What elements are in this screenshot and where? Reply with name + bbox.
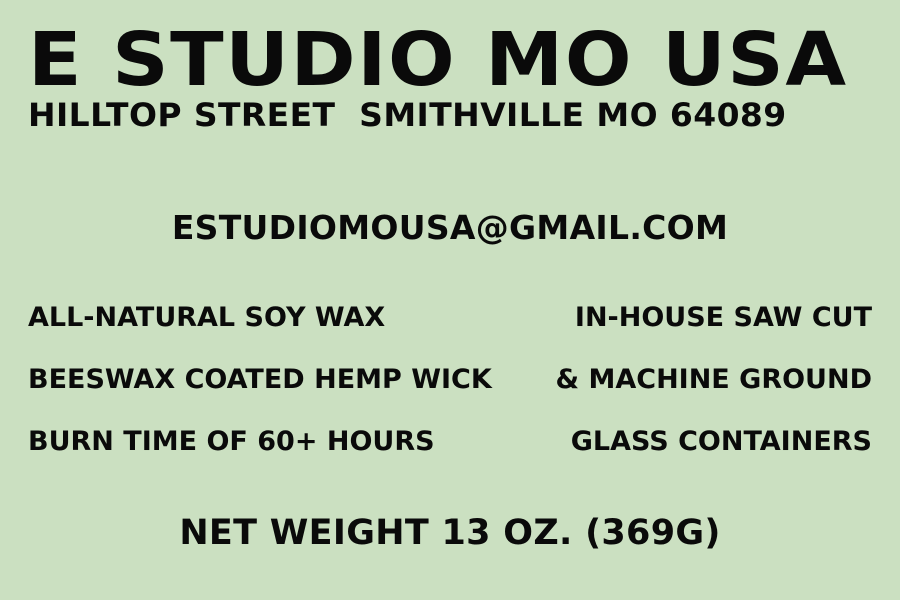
page-title: E STUDIO MO USA	[28, 24, 900, 97]
business-address: HILLTOP STREET SMITHVILLE MO 64089	[28, 97, 897, 135]
feature-item-saw-cut: IN-HOUSE SAW CUT	[575, 303, 872, 333]
contact-email-row: ESTUDIOMOUSA@GMAIL.COM	[0, 208, 900, 247]
feature-item-soy-wax: ALL-NATURAL SOY WAX	[28, 303, 385, 333]
feature-item-hemp-wick: BEESWAX COATED HEMP WICK	[28, 365, 492, 395]
feature-item-machine-ground: & MACHINE GROUND	[556, 365, 872, 395]
product-label-card: E STUDIO MO USA HILLTOP STREET SMITHVILL…	[0, 0, 900, 600]
contact-email: ESTUDIOMOUSA@GMAIL.COM	[172, 208, 728, 247]
net-weight-row: NET WEIGHT 13 OZ. (369G)	[0, 513, 900, 553]
net-weight-value: NET WEIGHT 13 OZ. (369G)	[179, 513, 720, 553]
feature-item-burn-time: BURN TIME OF 60+ HOURS	[28, 427, 435, 457]
feature-row: BEESWAX COATED HEMP WICK & MACHINE GROUN…	[28, 365, 872, 427]
header-block: E STUDIO MO USA HILLTOP STREET SMITHVILL…	[28, 24, 872, 134]
feature-item-glass-containers: GLASS CONTAINERS	[571, 427, 872, 457]
feature-row: BURN TIME OF 60+ HOURS GLASS CONTAINERS	[28, 427, 872, 489]
feature-list: ALL-NATURAL SOY WAX IN-HOUSE SAW CUT BEE…	[28, 303, 872, 489]
feature-row: ALL-NATURAL SOY WAX IN-HOUSE SAW CUT	[28, 303, 872, 365]
